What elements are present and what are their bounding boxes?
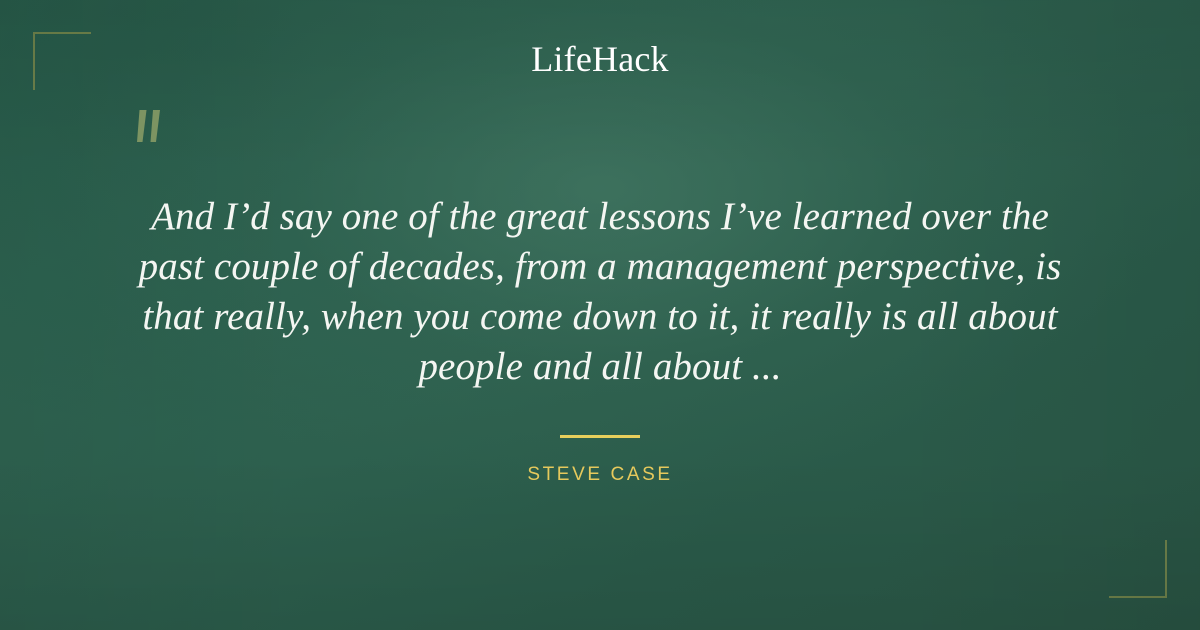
quote-line: that really, when you come down to it, i… xyxy=(100,292,1100,342)
quote-card: LifeHack And I’d say one of the great le… xyxy=(0,0,1200,630)
corner-bracket-bottom-right-icon xyxy=(1109,540,1167,598)
quote-block: And I’d say one of the great lessons I’v… xyxy=(100,192,1100,392)
quote-mark-icon xyxy=(125,101,177,153)
quote-line: And I’d say one of the great lessons I’v… xyxy=(100,192,1100,242)
quote-line: people and all about ... xyxy=(100,342,1100,392)
author-name: STEVE CASE xyxy=(527,464,672,486)
attribution-divider xyxy=(560,435,640,438)
brand-header: LifeHack xyxy=(0,41,1200,77)
quote-line: past couple of decades, from a managemen… xyxy=(100,242,1100,292)
brand-logo-text: LifeHack xyxy=(531,41,669,77)
attribution-block: STEVE CASE xyxy=(0,464,1200,486)
